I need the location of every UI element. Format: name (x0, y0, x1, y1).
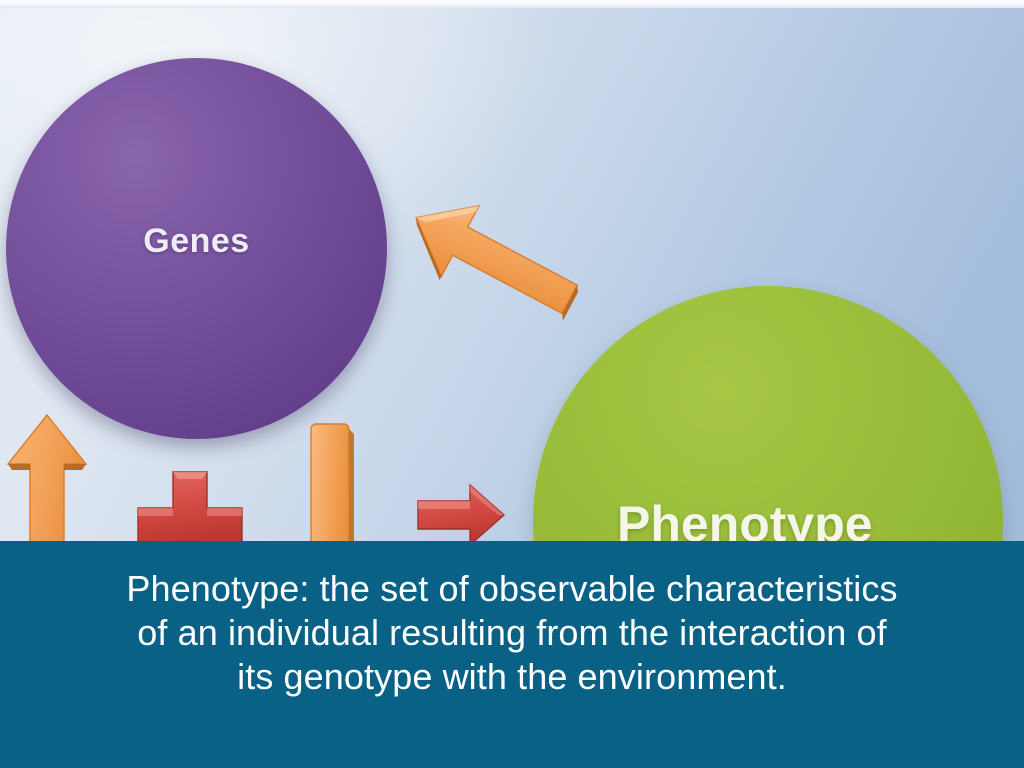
caption-bar: Phenotype: the set of observable charact… (0, 541, 1024, 768)
arrow-shaft-vertical-icon (306, 420, 358, 544)
node-genes-circle: Genes (6, 58, 387, 439)
node-genes-label: Genes (6, 222, 387, 261)
slide-canvas: Genes Phenotype (0, 0, 1024, 768)
caption-line-3: its genotype with the environment. (40, 655, 984, 699)
arrow-down-red-icon (130, 470, 250, 544)
caption-text: Phenotype: the set of observable charact… (40, 567, 984, 699)
arrow-diagonal-up-left-icon (396, 192, 588, 324)
arrow-up-orange-icon (4, 412, 90, 544)
caption-line-1: Phenotype: the set of observable charact… (40, 567, 984, 611)
caption-line-2: of an individual resulting from the inte… (40, 611, 984, 655)
arrow-right-red-icon (414, 483, 506, 545)
